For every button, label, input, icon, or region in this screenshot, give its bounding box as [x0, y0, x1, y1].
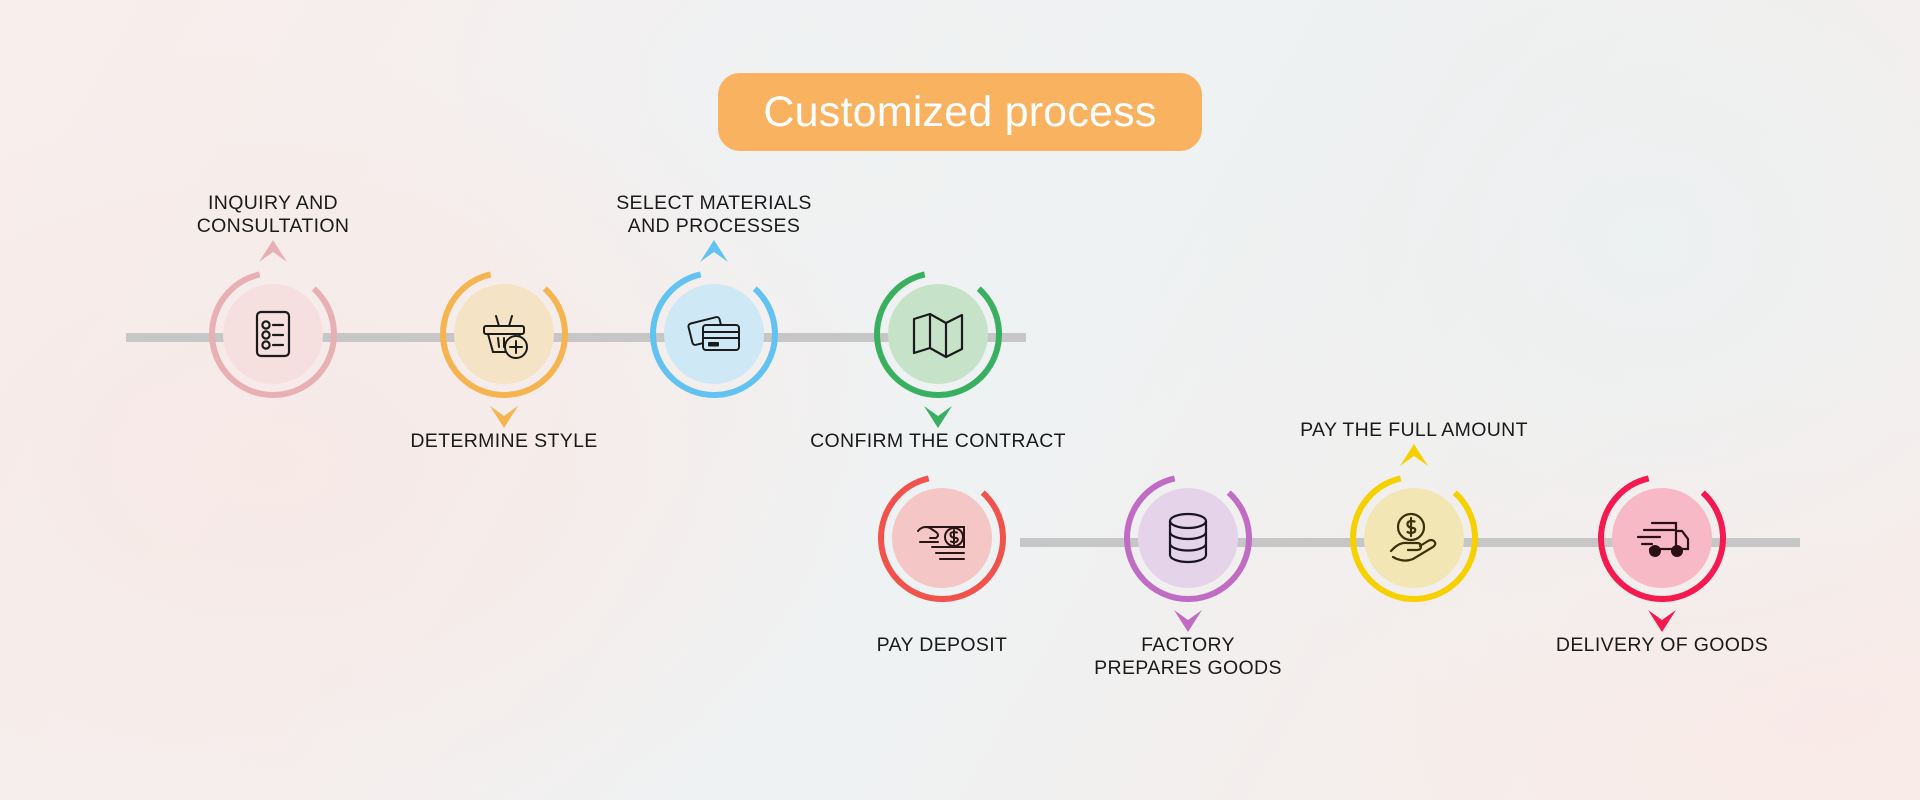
step-2-caret-icon — [488, 404, 520, 430]
step-2-node[interactable] — [438, 268, 570, 400]
step-7-label: PAY THE FULL AMOUNT — [1204, 419, 1624, 442]
step-1-caret-icon — [257, 238, 289, 264]
page-title-banner: Customized process — [718, 73, 1202, 151]
stacked-goods-icon — [1122, 472, 1254, 604]
step-3-node[interactable] — [648, 268, 780, 400]
process-diagram-canvas: Customized process INQUIRY AND CONSULTAT… — [0, 0, 1920, 800]
step-7-node[interactable] — [1348, 472, 1480, 604]
checklist-icon — [207, 268, 339, 400]
step-6-caret-icon — [1172, 608, 1204, 634]
step-8-caret-icon — [1646, 608, 1678, 634]
step-1-node[interactable] — [207, 268, 339, 400]
step-3-label: SELECT MATERIALS AND PROCESSES — [504, 192, 924, 238]
cash-payment-icon — [876, 472, 1008, 604]
step-4-node[interactable] — [872, 268, 1004, 400]
hand-holding-coin-icon — [1348, 472, 1480, 604]
shopping-basket-plus-icon — [438, 268, 570, 400]
credit-cards-icon — [648, 268, 780, 400]
folded-map-icon — [872, 268, 1004, 400]
step-6-node[interactable] — [1122, 472, 1254, 604]
step-6-label: FACTORY PREPARES GOODS — [978, 634, 1398, 680]
step-3-caret-icon — [698, 238, 730, 264]
step-1-label: INQUIRY AND CONSULTATION — [63, 192, 483, 238]
page-title: Customized process — [763, 91, 1156, 134]
step-4-label: CONFIRM THE CONTRACT — [728, 430, 1148, 453]
step-7-caret-icon — [1398, 442, 1430, 468]
step-5-node[interactable] — [876, 472, 1008, 604]
delivery-truck-icon — [1596, 472, 1728, 604]
step-8-label: DELIVERY OF GOODS — [1452, 634, 1872, 657]
step-8-node[interactable] — [1596, 472, 1728, 604]
step-2-label: DETERMINE STYLE — [294, 430, 714, 453]
step-4-caret-icon — [922, 404, 954, 430]
